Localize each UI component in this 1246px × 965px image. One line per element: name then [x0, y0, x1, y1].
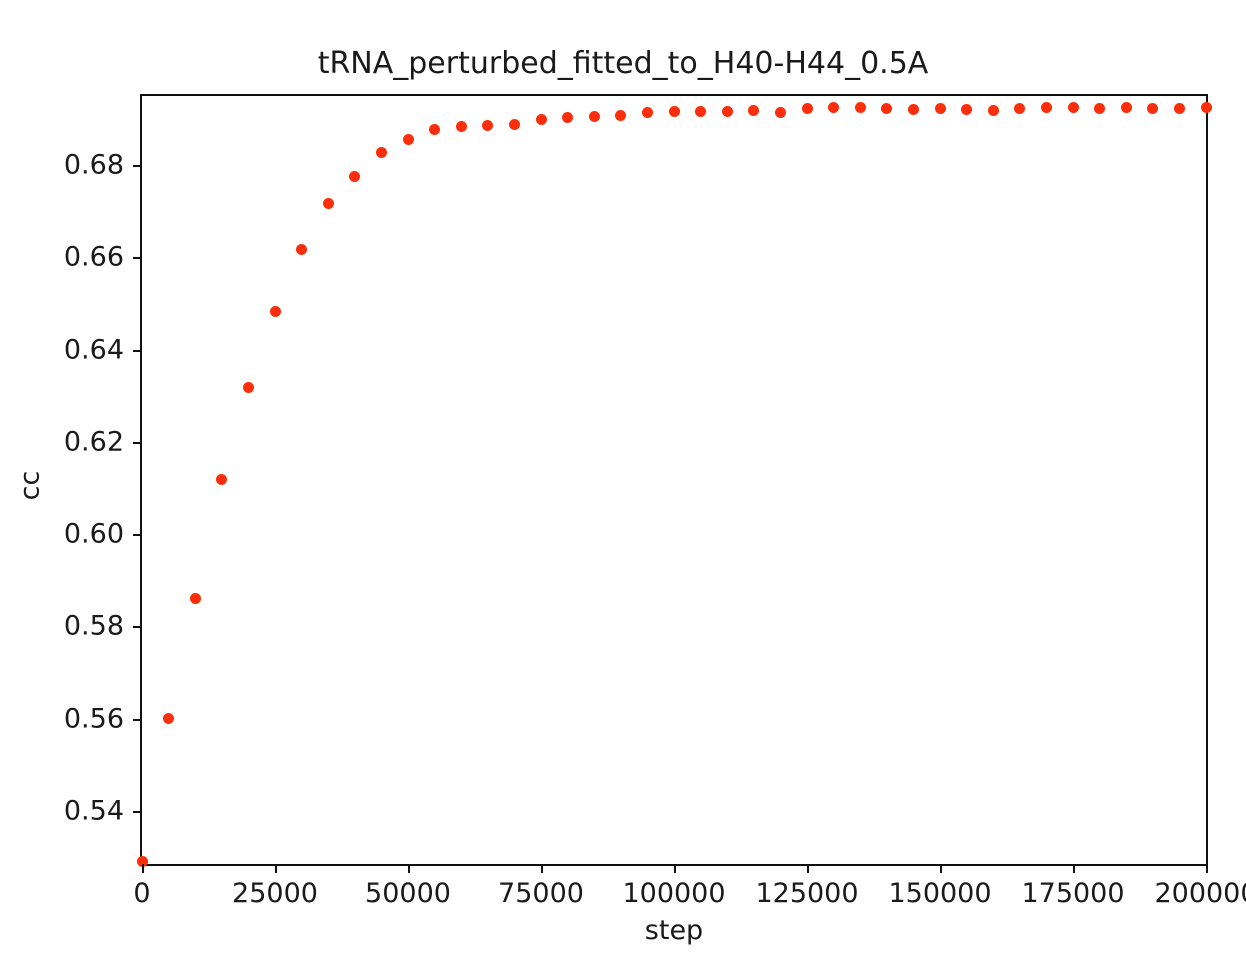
- data-point: [669, 106, 680, 117]
- scatter-series: [142, 96, 1206, 864]
- y-axis-tick-label: 0.60: [14, 519, 124, 550]
- chart-title: tRNA_perturbed_fitted_to_H40-H44_0.5A: [0, 46, 1246, 81]
- y-axis-tick: [133, 626, 142, 628]
- data-point: [615, 110, 626, 121]
- data-point: [536, 114, 547, 125]
- x-axis-tick: [940, 864, 942, 873]
- data-point: [1014, 103, 1025, 114]
- x-axis-tick: [275, 864, 277, 873]
- y-axis-tick-label: 0.62: [14, 426, 124, 457]
- data-point: [190, 593, 201, 604]
- data-point: [1041, 102, 1052, 113]
- y-axis-tick-label: 0.58: [14, 611, 124, 642]
- y-axis-tick: [133, 534, 142, 536]
- x-axis-tick-label: 200000: [1154, 878, 1246, 909]
- y-axis-tick-label: 0.54: [14, 795, 124, 826]
- data-point: [1174, 103, 1185, 114]
- y-axis-tick-label: 0.64: [14, 334, 124, 365]
- data-point: [376, 147, 387, 158]
- x-axis-tick: [807, 864, 809, 873]
- data-point: [1147, 103, 1158, 114]
- x-axis-tick-label: 125000: [755, 878, 858, 909]
- data-point: [1068, 102, 1079, 113]
- data-point: [270, 306, 281, 317]
- data-point: [828, 102, 839, 113]
- data-point: [482, 120, 493, 131]
- x-axis-tick: [1206, 864, 1208, 873]
- data-point: [855, 102, 866, 113]
- x-axis-tick-label: 50000: [365, 878, 451, 909]
- y-axis-tick-label: 0.68: [14, 150, 124, 181]
- x-axis-label: step: [140, 915, 1208, 946]
- data-point: [722, 106, 733, 117]
- y-axis-tick: [133, 811, 142, 813]
- data-point: [243, 382, 254, 393]
- data-point: [1121, 102, 1132, 113]
- data-point: [775, 107, 786, 118]
- x-axis-tick-label: 150000: [888, 878, 991, 909]
- data-point: [802, 103, 813, 114]
- data-point: [456, 121, 467, 132]
- y-axis-label: cc: [15, 446, 46, 526]
- x-axis-tick-label: 0: [133, 878, 150, 909]
- data-point: [429, 124, 440, 135]
- data-point: [748, 105, 759, 116]
- plot-area: 0.540.560.580.600.620.640.660.6802500050…: [140, 94, 1208, 866]
- data-point: [988, 105, 999, 116]
- data-point: [323, 198, 334, 209]
- x-axis-tick: [674, 864, 676, 873]
- y-axis-tick: [133, 350, 142, 352]
- data-point: [1094, 103, 1105, 114]
- data-point: [349, 171, 360, 182]
- figure-canvas: tRNA_perturbed_fitted_to_H40-H44_0.5A cc…: [0, 0, 1246, 965]
- x-axis-tick: [1073, 864, 1075, 873]
- data-point: [589, 111, 600, 122]
- data-point: [695, 106, 706, 117]
- x-axis-tick: [142, 864, 144, 873]
- y-axis-tick-label: 0.66: [14, 242, 124, 273]
- x-axis-tick: [408, 864, 410, 873]
- x-axis-tick-label: 100000: [622, 878, 725, 909]
- x-axis-tick-label: 75000: [498, 878, 584, 909]
- y-axis-tick: [133, 719, 142, 721]
- x-axis-tick-label: 25000: [232, 878, 318, 909]
- data-point: [642, 107, 653, 118]
- data-point: [296, 244, 307, 255]
- data-point: [403, 134, 414, 145]
- data-point: [961, 104, 972, 115]
- data-point: [509, 119, 520, 130]
- data-point: [1201, 102, 1212, 113]
- data-point: [935, 103, 946, 114]
- y-axis-tick: [133, 165, 142, 167]
- x-axis-tick-label: 175000: [1021, 878, 1124, 909]
- data-point: [163, 713, 174, 724]
- data-point: [881, 103, 892, 114]
- x-axis-tick: [541, 864, 543, 873]
- data-point: [216, 474, 227, 485]
- y-axis-tick: [133, 442, 142, 444]
- y-axis-tick: [133, 257, 142, 259]
- y-axis-tick-label: 0.56: [14, 703, 124, 734]
- data-point: [562, 112, 573, 123]
- data-point: [908, 104, 919, 115]
